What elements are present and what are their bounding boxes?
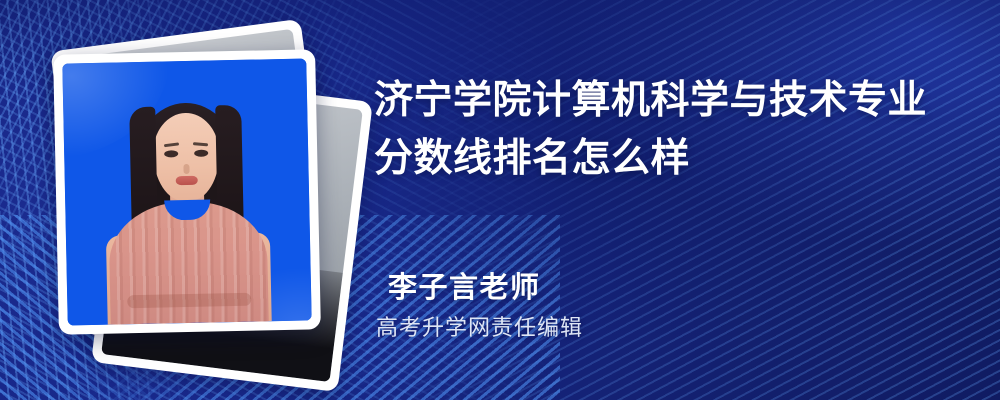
author-portrait-card [53, 49, 321, 334]
banner-text-block: 济宁学院计算机科学与技术专业分数线排名怎么样 李子言老师 高考升学网责任编辑 [374, 0, 994, 400]
portrait-lips [176, 176, 198, 185]
article-hero-banner: 济宁学院计算机科学与技术专业分数线排名怎么样 李子言老师 高考升学网责任编辑 [0, 0, 1000, 400]
portrait-eyebrow-right [193, 142, 208, 146]
portrait-eye-right [195, 150, 209, 157]
author-portrait-frame [62, 58, 311, 325]
portrait-eye-left [164, 151, 178, 158]
author-name: 李子言老师 [388, 268, 583, 306]
portrait-eyebrow-left [164, 143, 179, 148]
author-role: 高考升学网责任编辑 [376, 314, 583, 344]
article-headline: 济宁学院计算机科学与技术专业分数线排名怎么样 [374, 72, 964, 188]
portrait-nose [183, 163, 189, 173]
photo-card-stack [46, 30, 346, 360]
author-byline: 李子言老师 高考升学网责任编辑 [388, 268, 583, 344]
author-portrait-photo [62, 58, 311, 325]
